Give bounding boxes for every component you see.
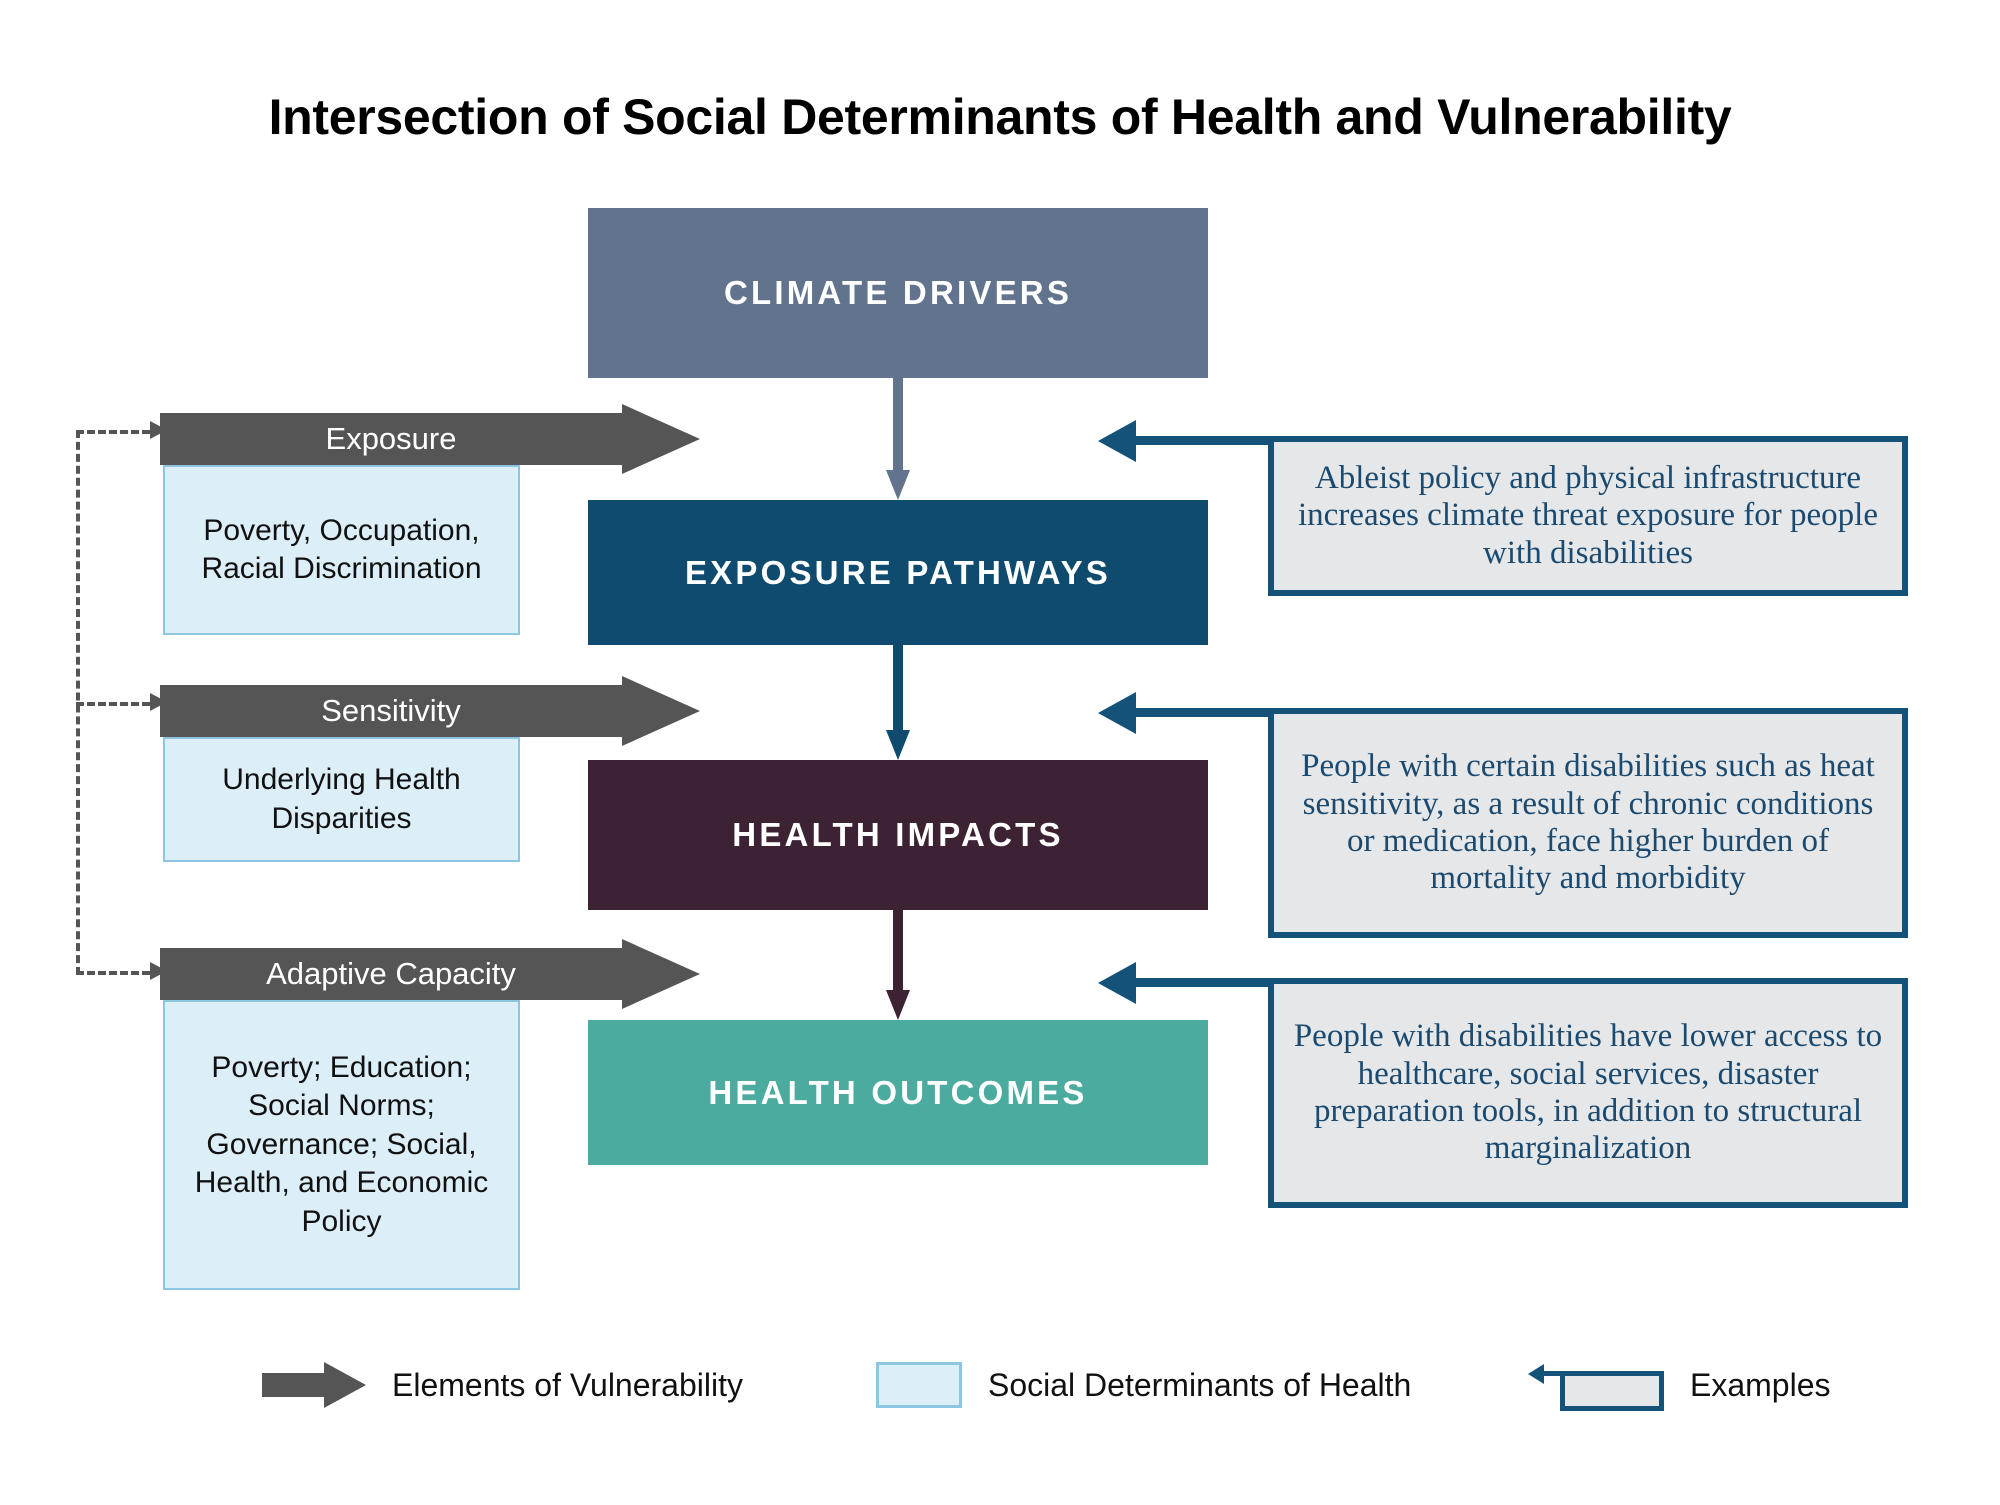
arrow-health-impacts-to-health-outcomes-icon <box>886 910 910 1020</box>
feedback-bracket-branch-exposure <box>76 430 150 434</box>
feedback-bracket-branch-adaptive-capacity <box>76 971 150 975</box>
swatch-arrowhead <box>324 1362 366 1408</box>
legend-label-examples: Examples <box>1690 1367 1831 1404</box>
callout-text-outcomes: People with disabilities have lower acce… <box>1268 978 1908 1208</box>
vulnerability-banner-adaptive-capacity: Adaptive Capacity <box>160 948 700 1000</box>
arrow-climate-drivers-to-exposure-pathways-icon <box>886 378 910 500</box>
vulnerability-label-adaptive-capacity: Adaptive Capacity <box>160 948 622 1000</box>
banner-arrowhead-icon <box>622 404 700 474</box>
legend-item-elements-of-vulnerability: Elements of Vulnerability <box>262 1355 743 1415</box>
legend-blue-swatch-icon <box>876 1362 962 1408</box>
callout-arrowhead-icon <box>1098 962 1136 1004</box>
legend-label-social-determinants-of-health: Social Determinants of Health <box>988 1367 1411 1404</box>
callout-leader-line <box>1136 436 1271 445</box>
callout-leader-line <box>1136 978 1271 987</box>
box-climate-drivers: CLIMATE DRIVERS <box>588 208 1208 378</box>
vulnerability-banner-sensitivity: Sensitivity <box>160 685 700 737</box>
arrow-shaft <box>893 378 903 470</box>
box-exposure-pathways: EXPOSURE PATHWAYS <box>588 500 1208 645</box>
arrow-head <box>886 470 910 500</box>
sdoh-box-exposure: Poverty, Occupation, Racial Discriminati… <box>163 465 520 635</box>
callout-text-sensitivity: People with certain disabilities such as… <box>1268 708 1908 938</box>
box-health-impacts: HEALTH IMPACTS <box>588 760 1208 910</box>
swatch-band <box>262 1373 324 1397</box>
feedback-bracket <box>76 430 168 975</box>
legend-label-elements-of-vulnerability: Elements of Vulnerability <box>392 1367 743 1404</box>
sdoh-box-sensitivity: Underlying Health Disparities <box>163 737 520 862</box>
legend: Elements of Vulnerability Social Determi… <box>0 1355 2000 1435</box>
callout-arrowhead-icon <box>1098 692 1136 734</box>
vulnerability-label-sensitivity: Sensitivity <box>160 685 622 737</box>
arrow-shaft <box>893 910 903 990</box>
callout-text-exposure: Ableist policy and physical infrastructu… <box>1268 436 1908 596</box>
banner-arrowhead-icon <box>622 939 700 1009</box>
page-title: Intersection of Social Determinants of H… <box>0 88 2000 146</box>
arrow-head <box>886 730 910 760</box>
legend-item-examples: Examples <box>1536 1355 1831 1415</box>
legend-arrow-swatch-icon <box>262 1362 366 1408</box>
sdoh-box-adaptive-capacity: Poverty; Education; Social Norms; Govern… <box>163 1000 520 1290</box>
legend-item-social-determinants-of-health: Social Determinants of Health <box>876 1355 1411 1415</box>
swatch-box <box>1560 1371 1664 1411</box>
legend-example-swatch-icon <box>1536 1359 1664 1411</box>
vulnerability-banner-exposure: Exposure <box>160 413 700 465</box>
vulnerability-label-exposure: Exposure <box>160 413 622 465</box>
callout-arrowhead-icon <box>1098 420 1136 462</box>
box-health-outcomes: HEALTH OUTCOMES <box>588 1020 1208 1165</box>
banner-arrowhead-icon <box>622 676 700 746</box>
feedback-bracket-branch-sensitivity <box>76 702 150 706</box>
arrow-shaft <box>893 645 903 730</box>
arrow-head <box>886 990 910 1020</box>
callout-leader-line <box>1136 708 1271 717</box>
arrow-exposure-pathways-to-health-impacts-icon <box>886 645 910 760</box>
